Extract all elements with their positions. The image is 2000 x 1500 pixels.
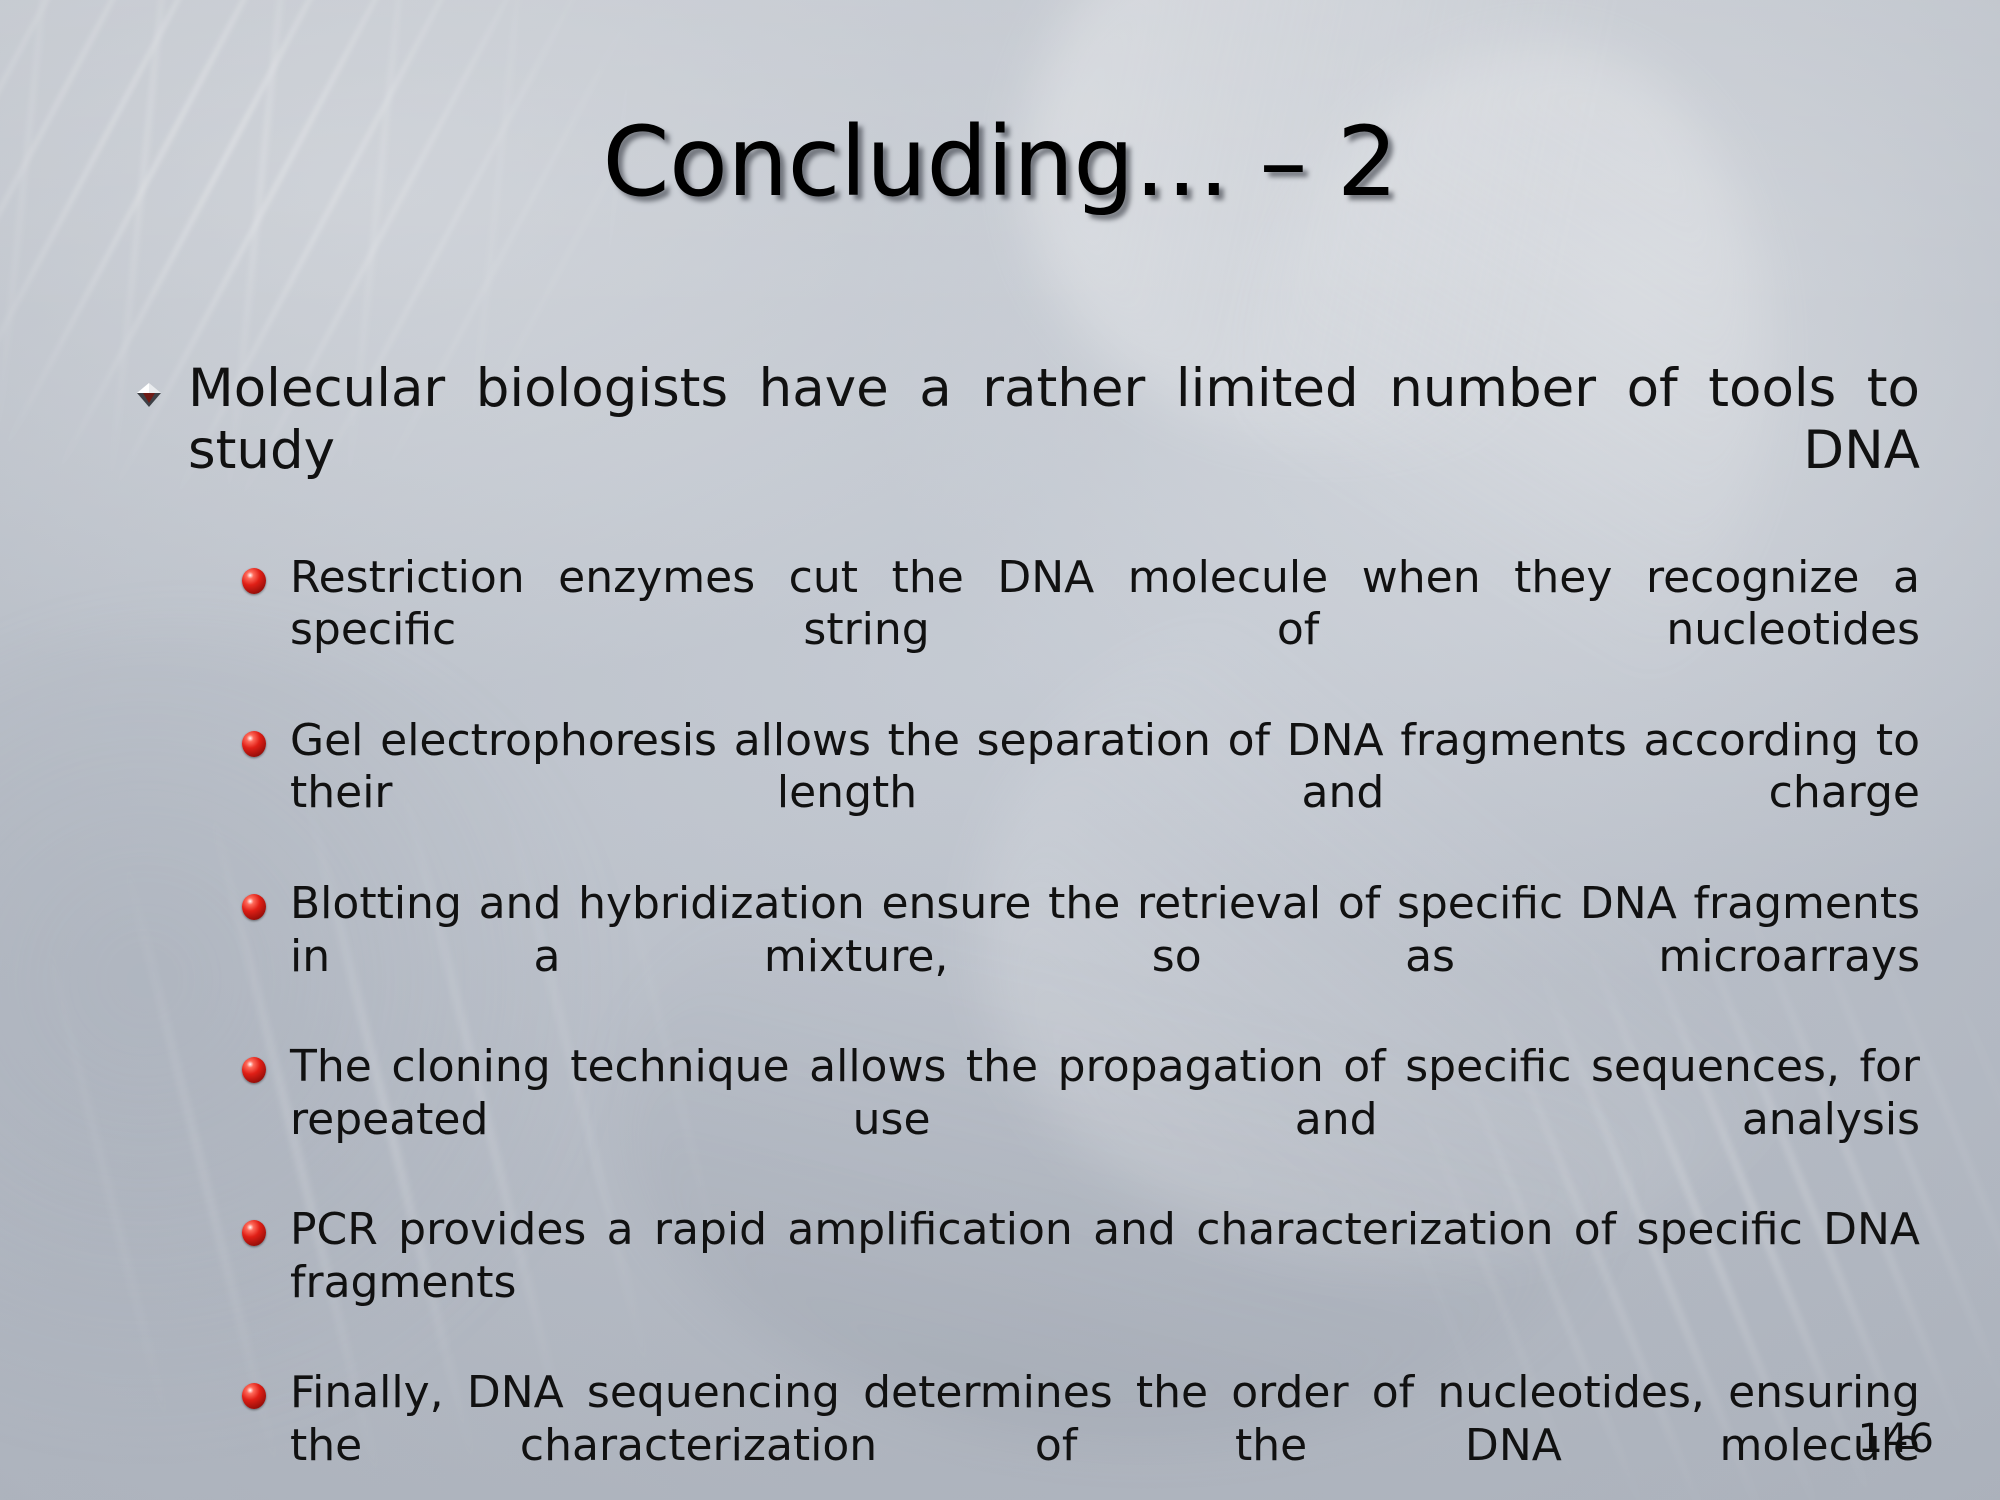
sub-bullet-item: Blotting and hybridization ensure the re…	[236, 878, 1920, 1035]
main-bullet-item: Molecular biologists have a rather limit…	[120, 358, 1920, 544]
sub-bullet-item: PCR provides a rapid amplification and c…	[236, 1204, 1920, 1361]
sub-bullet-text: Finally, DNA sequencing determines the o…	[290, 1367, 1920, 1500]
slide-body: Molecular biologists have a rather limit…	[120, 358, 1920, 1500]
sub-bullet-list: Restriction enzymes cut the DNA molecule…	[120, 552, 1920, 1500]
sub-bullet-item: Gel electrophoresis allows the separatio…	[236, 715, 1920, 872]
sub-bullet-text: Blotting and hybridization ensure the re…	[290, 878, 1920, 1035]
slide-title: Concluding… – 2	[0, 112, 2000, 213]
sub-bullet-text: PCR provides a rapid amplification and c…	[290, 1204, 1920, 1361]
sub-bullet-item: The cloning technique allows the propaga…	[236, 1041, 1920, 1198]
sub-bullet-text: Gel electrophoresis allows the separatio…	[290, 715, 1920, 872]
sub-bullet-item: Restriction enzymes cut the DNA molecule…	[236, 552, 1920, 709]
red-sphere-bullet-icon	[242, 1220, 266, 1246]
red-sphere-bullet-icon	[242, 568, 266, 594]
sub-bullet-item: Finally, DNA sequencing determines the o…	[236, 1367, 1920, 1500]
slide-page-number: 146	[1858, 1416, 1934, 1462]
red-sphere-bullet-icon	[242, 731, 266, 757]
red-sphere-bullet-icon	[242, 1383, 266, 1409]
sub-bullet-text: Restriction enzymes cut the DNA molecule…	[290, 552, 1920, 709]
diamond-arrow-bullet-icon	[134, 380, 164, 410]
sub-bullet-text: The cloning technique allows the propaga…	[290, 1041, 1920, 1198]
red-sphere-bullet-icon	[242, 894, 266, 920]
main-bullet-text: Molecular biologists have a rather limit…	[188, 358, 1920, 544]
presentation-slide: Concluding… – 2 Molecular biologists hav…	[0, 0, 2000, 1500]
red-sphere-bullet-icon	[242, 1057, 266, 1083]
